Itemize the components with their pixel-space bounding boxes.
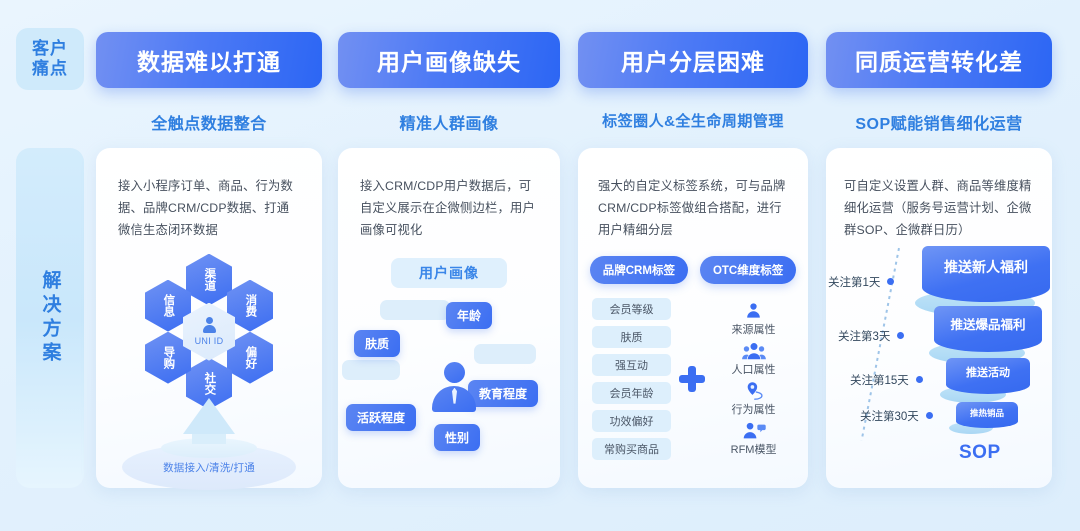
card-description-3: 强大的自定义标签系统，可与品牌CRM/CDP标签做组合搭配，进行用户精细分层 [578,148,808,242]
rail-pain-line-1: 客户 [32,39,68,59]
timeline-day-30: 关注第30天 [860,408,933,424]
timeline-day-1: 关注第1天 [828,274,894,290]
list-item[interactable]: 肤质 [592,326,671,348]
pain-title-1[interactable]: 数据难以打通 [96,32,322,88]
solution-card-3: 强大的自定义标签系统，可与品牌CRM/CDP标签做组合搭配，进行用户精细分层 品… [578,148,808,488]
attribute-rfm: RFM模型 [731,421,777,457]
plus-icon [679,366,705,392]
location-pin-icon [743,381,765,400]
pain-title-2[interactable]: 用户画像缺失 [338,32,560,88]
attribute-label: 来源属性 [732,321,776,337]
profile-tag-cluster: 年龄 肤质 教育程度 活跃程度 性别 [338,292,560,488]
column-user-profile: 用户画像缺失 精准人群画像 接入CRM/CDP用户数据后，可自定义展示在企微侧边… [338,0,560,134]
solution-card-4: 可自定义设置人群、商品等维度精细化运营（服务号运营计划、企微群SOP、企微群日历… [826,148,1052,488]
attribute-demographic: 人口属性 [732,341,776,377]
sop-label: SOP [959,442,1001,464]
timeline-label: 关注第30天 [860,408,919,424]
tag-pill-otc[interactable]: OTC维度标签 [700,256,796,284]
pain-title-3[interactable]: 用户分层困难 [578,32,808,88]
avatar-head [444,362,465,383]
hex-guide-label: 导购 [162,346,175,369]
platform-label: 数据接入/清洗/打通 [163,460,255,475]
person-icon [202,317,217,334]
up-arrow-icon [183,398,235,434]
attribute-label: 人口属性 [732,361,776,377]
bubble-skin-type[interactable]: 肤质 [354,330,400,357]
list-item[interactable]: 强互动 [592,354,671,376]
sub-title-2: 精准人群画像 [338,110,560,134]
hex-information-label: 信息 [162,294,175,317]
timeline-day-15: 关注第15天 [850,372,923,388]
funnel-stage-1[interactable]: 推送新人福利 [922,246,1050,302]
column-data-integration: 数据难以打通 全触点数据整合 接入小程序订单、商品、行为数据、品牌CRM/CDP… [96,0,322,134]
card-description-4: 可自定义设置人群、商品等维度精细化运营（服务号运营计划、企微群SOP、企微群日历… [826,148,1052,242]
attribute-source: 来源属性 [732,301,776,337]
timeline-dot [897,332,904,339]
bubble-education[interactable]: 教育程度 [468,380,538,407]
funnel-stage-4[interactable]: 推热销品 [956,402,1018,428]
attribute-behavior: 行为属性 [732,381,776,417]
hex-preference-label: 偏好 [244,346,257,369]
column-sop: 同质运营转化差 SOP赋能销售细化运营 可自定义设置人群、商品等维度精细化运营（… [826,0,1052,134]
sub-title-4: SOP赋能销售细化运营 [826,110,1052,134]
solution-card-2: 接入CRM/CDP用户数据后，可自定义展示在企微侧边栏，用户画像可视化 用户画像… [338,148,560,488]
people-group-icon [742,341,766,360]
funnel-stage-3[interactable]: 推送活动 [946,358,1030,394]
timeline-dot [926,412,933,419]
tag-list: 会员等级 肤质 强互动 会员年龄 功效偏好 常购买商品 [592,298,671,460]
person-icon [743,301,764,320]
card-description-2: 接入CRM/CDP用户数据后，可自定义展示在企微侧边栏，用户画像可视化 [338,148,560,242]
list-item[interactable]: 会员等级 [592,298,671,320]
hexagon-cluster: 渠道 消费 偏好 社交 导购 信息 UNI ID [96,252,322,402]
list-item[interactable]: 常购买商品 [592,438,671,460]
user-avatar-icon [432,362,476,412]
hex-channel-label: 渠道 [203,268,216,291]
solution-card-1: 接入小程序订单、商品、行为数据、品牌CRM/CDP数据、打通微信生态闭环数据 渠… [96,148,322,488]
attribute-label: RFM模型 [731,441,777,457]
timeline-label: 关注第15天 [850,372,909,388]
bubble-placeholder-2 [474,344,536,364]
segmentation-body: 会员等级 肤质 强互动 会员年龄 功效偏好 常购买商品 来源属性 [578,284,808,460]
list-item[interactable]: 功效偏好 [592,410,671,432]
list-item[interactable]: 会员年龄 [592,382,671,404]
timeline-day-3: 关注第3天 [838,328,904,344]
hex-social-label: 社交 [203,372,216,395]
person-tag-icon [741,421,767,440]
bubble-activity[interactable]: 活跃程度 [346,404,416,431]
card-description-1: 接入小程序订单、商品、行为数据、品牌CRM/CDP数据、打通微信生态闭环数据 [96,148,322,242]
rail-badge-solution: 解决方案 [16,148,84,488]
hex-consumption-label: 消费 [244,294,257,317]
data-platform-illustration: 数据接入/清洗/打通 [96,398,322,476]
pain-title-4[interactable]: 同质运营转化差 [826,32,1052,88]
bubble-age[interactable]: 年龄 [446,302,492,329]
rail-pain-line-2: 痛点 [32,59,68,79]
tag-pill-row: 品牌CRM标签 OTC维度标签 [578,256,808,284]
infographic-board: 客户 痛点 解决方案 数据难以打通 全触点数据整合 接入小程序订单、商品、行为数… [0,0,1080,531]
sop-funnel: 推送新人福利 推送爆品福利 推送活动 推热销品 关注第1天 关注第3天 关注第1… [826,244,1052,474]
attribute-label: 行为属性 [732,401,776,417]
attribute-icon-list: 来源属性 人口属性 [713,301,794,457]
sub-title-3: 标签圈人&全生命周期管理 [578,110,808,131]
chip-user-profile[interactable]: 用户画像 [391,258,507,288]
timeline-dot [887,278,894,285]
column-segmentation: 用户分层困难 标签圈人&全生命周期管理 强大的自定义标签系统，可与品牌CRM/C… [578,0,808,131]
uni-id-label: UNI ID [195,336,224,346]
bubble-placeholder-1 [380,300,450,320]
bubble-gender[interactable]: 性别 [434,424,480,451]
rail-badge-pain-points: 客户 痛点 [16,28,84,90]
funnel-stage-2[interactable]: 推送爆品福利 [934,306,1042,352]
timeline-label: 关注第3天 [838,328,890,344]
bubble-placeholder-3 [342,360,400,380]
timeline-dot [916,376,923,383]
timeline-label: 关注第1天 [828,274,880,290]
sub-title-1: 全触点数据整合 [96,110,322,134]
hex-channel[interactable]: 渠道 [186,254,232,306]
tag-pill-brand-crm[interactable]: 品牌CRM标签 [590,256,688,284]
